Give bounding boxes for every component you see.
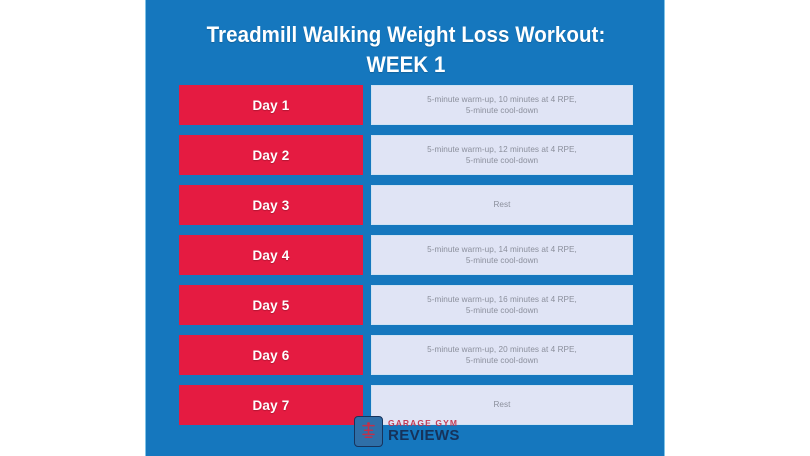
table-row: Day 5 5-minute warm-up, 16 minutes at 4 … <box>146 285 666 325</box>
day-label-box: Day 2 <box>179 135 363 175</box>
day-label-box: Day 1 <box>179 85 363 125</box>
day-label-box: Day 3 <box>179 185 363 225</box>
blue-panel: Treadmill Walking Weight Loss Workout: W… <box>145 0 665 456</box>
workout-description-box: 5-minute warm-up, 14 minutes at 4 RPE, 5… <box>371 235 633 275</box>
logo-wordmark: GARAGE GYM REVIEWS <box>388 419 458 443</box>
day-label: Day 2 <box>252 148 289 163</box>
workout-description: Rest <box>493 199 510 211</box>
day-label-box: Day 5 <box>179 285 363 325</box>
page-title: Treadmill Walking Weight Loss Workout: W… <box>146 20 666 80</box>
day-label-box: Day 6 <box>179 335 363 375</box>
day-label: Day 7 <box>252 398 289 413</box>
day-label: Day 4 <box>252 248 289 263</box>
workout-description: 5-minute warm-up, 20 minutes at 4 RPE, 5… <box>427 344 577 367</box>
workout-description-box: 5-minute warm-up, 12 minutes at 4 RPE, 5… <box>371 135 633 175</box>
table-row: Day 4 5-minute warm-up, 14 minutes at 4 … <box>146 235 666 275</box>
workout-description: 5-minute warm-up, 12 minutes at 4 RPE, 5… <box>427 144 577 167</box>
workout-description: 5-minute warm-up, 14 minutes at 4 RPE, 5… <box>427 244 577 267</box>
infographic-canvas: Treadmill Walking Weight Loss Workout: W… <box>0 0 810 456</box>
day-label: Day 3 <box>252 198 289 213</box>
table-row: Day 6 5-minute warm-up, 20 minutes at 4 … <box>146 335 666 375</box>
day-label: Day 1 <box>252 98 289 113</box>
workout-description-box: 5-minute warm-up, 16 minutes at 4 RPE, 5… <box>371 285 633 325</box>
workout-description-box: 5-minute warm-up, 10 minutes at 4 RPE, 5… <box>371 85 633 125</box>
day-label: Day 6 <box>252 348 289 363</box>
title-line-2: WEEK 1 <box>164 50 648 80</box>
table-row: Day 1 5-minute warm-up, 10 minutes at 4 … <box>146 85 666 125</box>
logo-top-text: GARAGE GYM <box>388 419 458 428</box>
workout-description-box: 5-minute warm-up, 20 minutes at 4 RPE, 5… <box>371 335 633 375</box>
workout-description: 5-minute warm-up, 16 minutes at 4 RPE, 5… <box>427 294 577 317</box>
day-label-box: Day 4 <box>179 235 363 275</box>
title-line-1: Treadmill Walking Weight Loss Workout: <box>164 20 648 50</box>
table-row: Day 2 5-minute warm-up, 12 minutes at 4 … <box>146 135 666 175</box>
workout-description: Rest <box>493 399 510 411</box>
workout-description: 5-minute warm-up, 10 minutes at 4 RPE, 5… <box>427 94 577 117</box>
workout-schedule-table: Day 1 5-minute warm-up, 10 minutes at 4 … <box>146 85 666 425</box>
logo-bottom-text: REVIEWS <box>388 429 461 444</box>
workout-description-box: Rest <box>371 185 633 225</box>
barbell-badge-icon <box>354 416 383 447</box>
table-row: Day 3 Rest <box>146 185 666 225</box>
brand-logo: GARAGE GYM REVIEWS <box>146 414 666 448</box>
day-label: Day 5 <box>252 298 289 313</box>
